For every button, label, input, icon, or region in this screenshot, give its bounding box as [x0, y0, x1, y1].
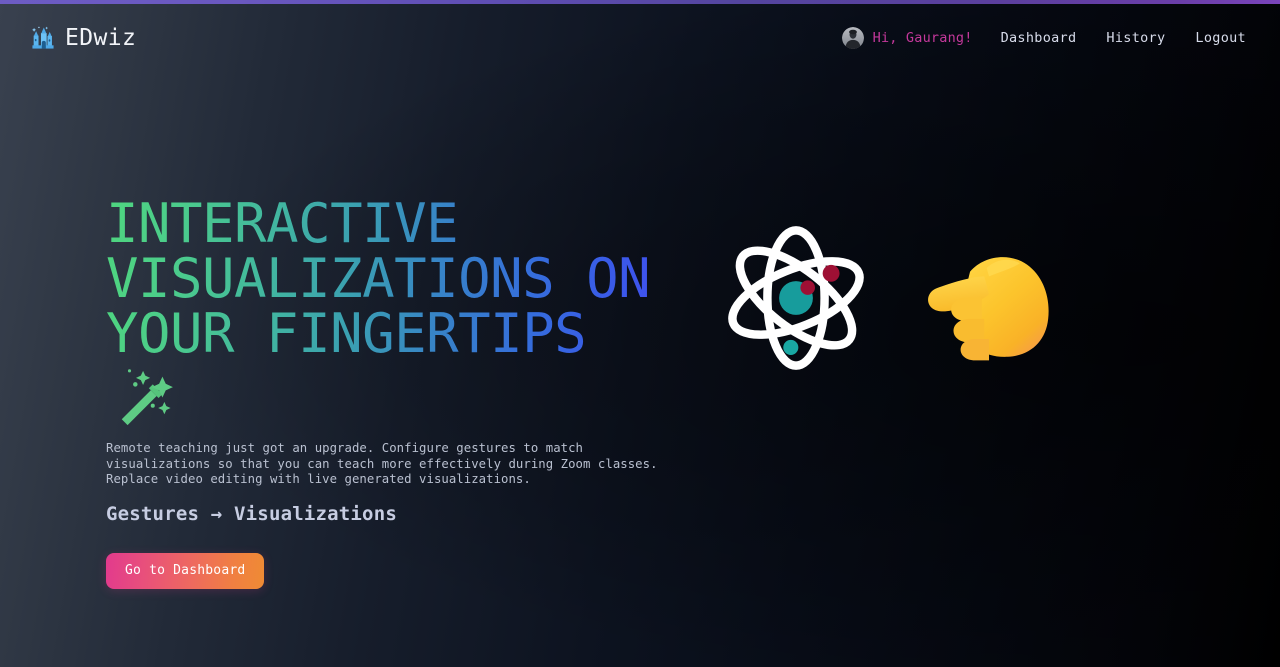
top-accent-bar [0, 0, 1280, 4]
nav-link-dashboard[interactable]: Dashboard [1001, 30, 1077, 46]
wizard-castle-icon [30, 24, 56, 52]
atom-icon [718, 220, 874, 376]
hero-subheading: Gestures → Visualizations [106, 503, 700, 525]
nav-right-group: Hi, Gaurang! Dashboard History Logout [842, 27, 1246, 49]
nav-link-history[interactable]: History [1106, 30, 1165, 46]
hero-left-column: INTERACTIVE VISUALIZATIONS ON YOUR FINGE… [0, 72, 700, 589]
user-chip[interactable]: Hi, Gaurang! [842, 27, 973, 49]
page-title: INTERACTIVE VISUALIZATIONS ON YOUR FINGE… [106, 196, 650, 361]
go-to-dashboard-button[interactable]: Go to Dashboard [106, 553, 264, 589]
hero-section: INTERACTIVE VISUALIZATIONS ON YOUR FINGE… [0, 72, 1280, 667]
backhand-index-pointing-left-icon [918, 229, 1060, 371]
brand-name: EDwiz [65, 25, 136, 51]
magic-wand-icon [114, 365, 176, 427]
user-avatar [842, 27, 864, 49]
navbar: EDwiz [0, 4, 1280, 72]
page-background: EDwiz [0, 0, 1280, 667]
hero-description: Remote teaching just got an upgrade. Con… [106, 441, 684, 488]
greeting-text: Hi, Gaurang! [873, 30, 973, 46]
brand-logo[interactable]: EDwiz [30, 24, 136, 52]
hero-right-column [700, 72, 1280, 667]
nav-link-logout[interactable]: Logout [1195, 30, 1246, 46]
